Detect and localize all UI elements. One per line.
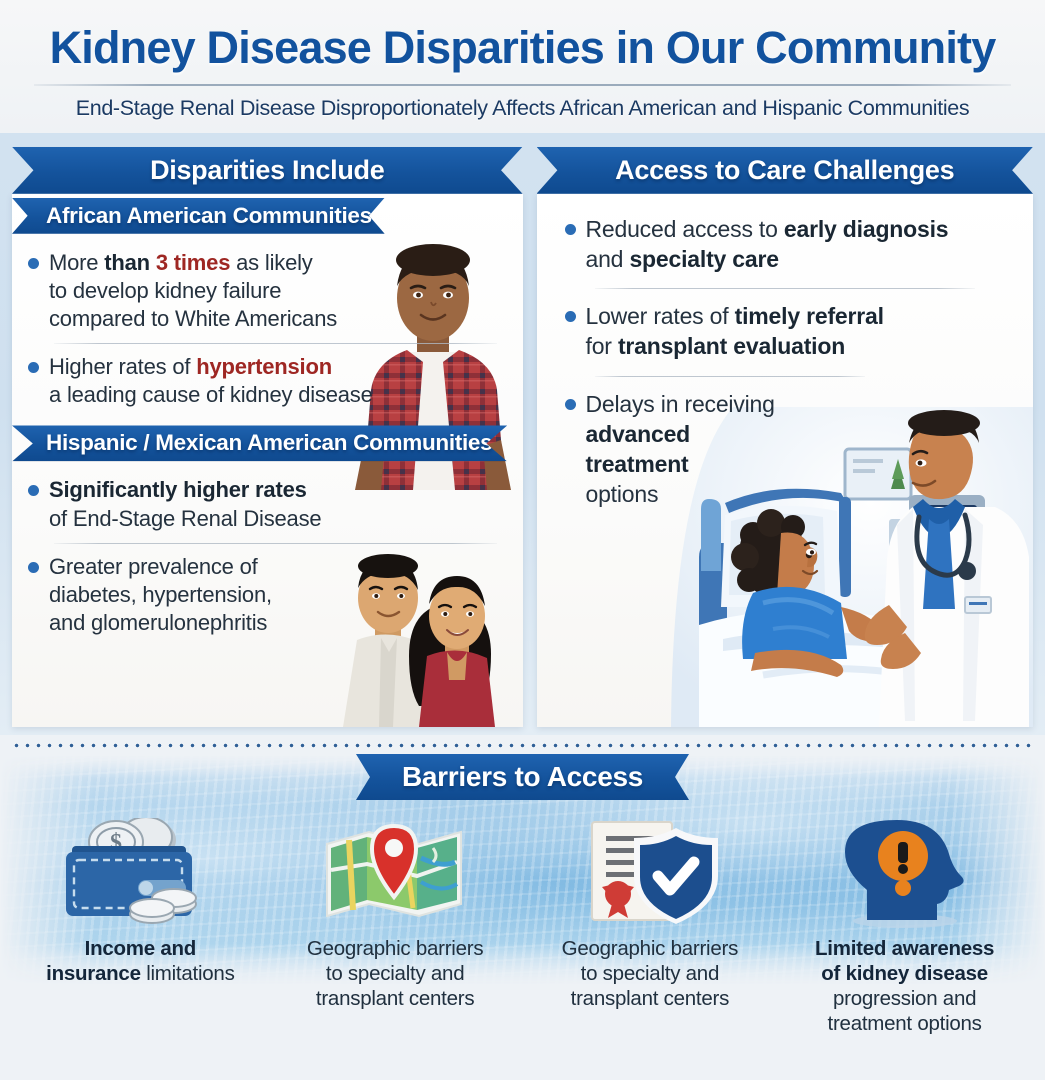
section-banner-hispanic: Hispanic / Mexican American Communities	[12, 425, 507, 461]
bullet-text: More than 3 times as likelyto develop ki…	[49, 249, 337, 333]
barrier-label: Income andinsurance limitations	[40, 932, 240, 986]
page-subtitle: End-Stage Renal Disease Disproportionate…	[26, 96, 1019, 121]
barrier-item: Limited awarenessof kidney diseaseprogre…	[780, 814, 1029, 1036]
access-banner-wrap: Access to Care Challenges	[537, 147, 1034, 194]
poster-header: Kidney Disease Disparities in Our Commun…	[0, 0, 1045, 133]
bullet-text: Delays in receivingadvancedtreatmentopti…	[586, 390, 775, 510]
bullet-dot-icon	[565, 224, 576, 235]
head-alert-icon	[819, 818, 991, 928]
section-banner-barriers: Barriers to Access	[356, 754, 689, 800]
bullet-divider	[54, 543, 497, 544]
infographic-poster: Kidney Disease Disparities in Our Commun…	[0, 0, 1045, 1080]
bullet-divider	[595, 376, 866, 377]
barriers-grid: $ Income andinsurance limitations	[0, 800, 1045, 1036]
bullet-text: Greater prevalence ofdiabetes, hypertens…	[49, 553, 272, 637]
bullet-dot-icon	[565, 399, 576, 410]
left-column: Disparities Include	[12, 147, 523, 727]
bullet-text: Lower rates of timely referralfor transp…	[586, 302, 884, 362]
disparities-banner-wrap: Disparities Include	[12, 147, 523, 194]
section-banner-disparities: Disparities Include	[12, 147, 523, 194]
bullet-text: Higher rates of hypertensiona leading ca…	[49, 353, 373, 409]
title-divider	[34, 84, 1011, 86]
barrier-item: Geographic barriersto specialty andtrans…	[526, 814, 775, 1036]
barriers-section: Barriers to Access $	[0, 735, 1045, 1080]
barrier-icon-slot	[819, 814, 991, 932]
bullet-dot-icon	[565, 311, 576, 322]
barrier-label: Limited awarenessof kidney diseaseprogre…	[809, 932, 1000, 1036]
bullet-dot-icon	[28, 258, 39, 269]
list-item: Delays in receivingadvancedtreatmentopti…	[565, 387, 1016, 516]
list-item: Reduced access to early diagnosisand spe…	[565, 212, 1016, 281]
bullet-text: Reduced access to early diagnosisand spe…	[586, 215, 949, 275]
wallet-coins-icon: $	[54, 818, 226, 928]
list-item: Higher rates of hypertensiona leading ca…	[28, 350, 507, 415]
bullet-divider	[54, 343, 497, 344]
main-content-area: Disparities Include	[0, 133, 1045, 735]
page-title: Kidney Disease Disparities in Our Commun…	[26, 24, 1019, 72]
barrier-item: $ Income andinsurance limitations	[16, 814, 265, 1036]
hispanic-bullet-list: Significantly higher ratesof End-Stage R…	[12, 461, 523, 649]
map-pin-icon	[309, 818, 481, 928]
list-item: Significantly higher ratesof End-Stage R…	[28, 473, 507, 538]
bullet-dot-icon	[28, 485, 39, 496]
access-to-care-card: Reduced access to early diagnosisand spe…	[537, 194, 1034, 727]
barrier-item: Geographic barriersto specialty andtrans…	[271, 814, 520, 1036]
barrier-icon-slot	[564, 814, 736, 932]
list-item: Greater prevalence ofdiabetes, hypertens…	[28, 550, 507, 643]
bullet-text: Significantly higher ratesof End-Stage R…	[49, 476, 321, 532]
disparities-card: African American Communities More than 3…	[12, 194, 523, 727]
aa-bullet-list: More than 3 times as likelyto develop ki…	[12, 234, 523, 422]
list-item: Lower rates of timely referralfor transp…	[565, 299, 1016, 368]
barrier-label: Geographic barriersto specialty andtrans…	[301, 932, 489, 1011]
bullet-divider	[595, 288, 976, 289]
bullet-dot-icon	[28, 562, 39, 573]
section-banner-african-american: African American Communities	[12, 198, 385, 234]
barrier-icon-slot: $	[54, 814, 226, 932]
dotted-divider	[14, 743, 1031, 748]
barrier-icon-slot	[309, 814, 481, 932]
aa-banner-wrap: African American Communities	[12, 198, 523, 234]
right-column: Access to Care Challenges	[537, 147, 1034, 727]
list-item: More than 3 times as likelyto develop ki…	[28, 246, 507, 339]
barrier-label: Geographic barriersto specialty andtrans…	[556, 932, 744, 1011]
access-bullet-list: Reduced access to early diagnosisand spe…	[537, 194, 1034, 522]
section-banner-access-to-care: Access to Care Challenges	[537, 147, 1034, 194]
document-shield-check-icon	[564, 818, 736, 928]
bullet-dot-icon	[28, 362, 39, 373]
barriers-banner-wrap: Barriers to Access	[0, 754, 1045, 800]
hispanic-banner-wrap: Hispanic / Mexican American Communities	[12, 425, 523, 461]
